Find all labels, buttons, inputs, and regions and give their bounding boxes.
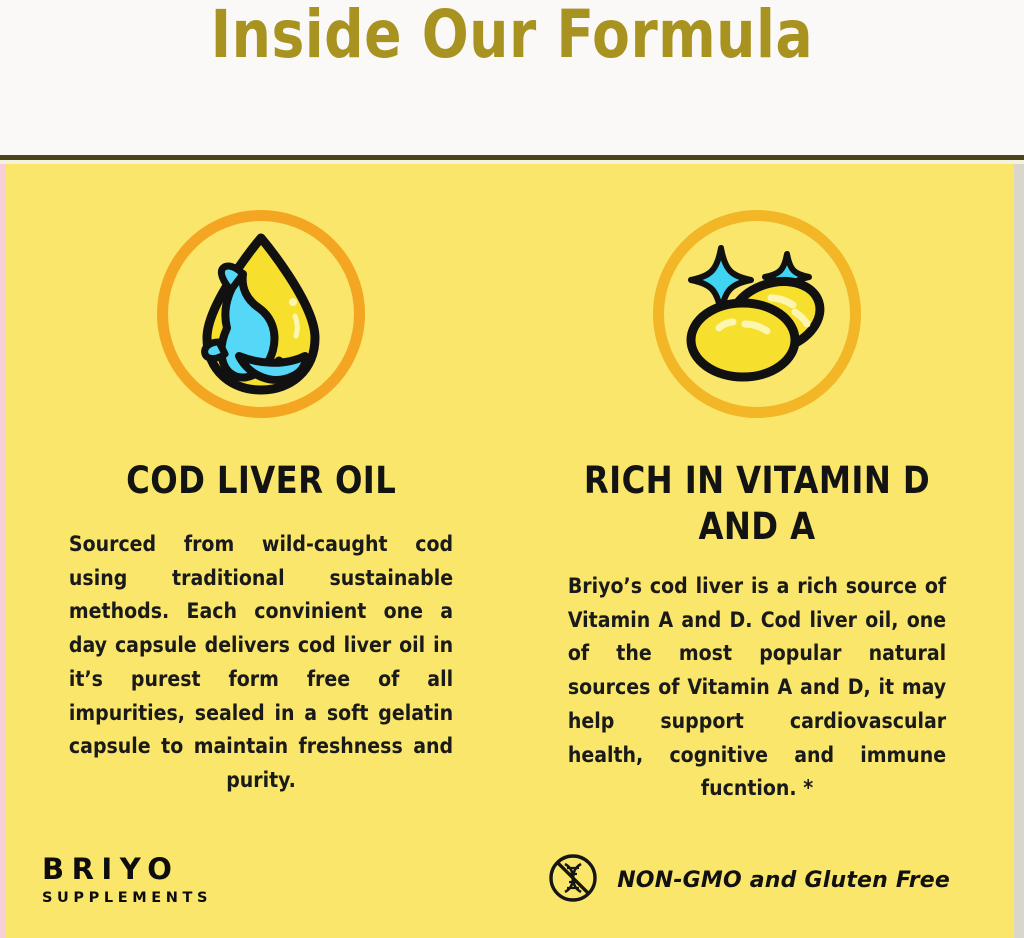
feature-heading: COD LIVER OIL xyxy=(126,458,396,504)
brand-name: BRIYO xyxy=(42,855,179,884)
brand-logo: BRIYO SUPPLEMENTS xyxy=(42,855,212,906)
page-header: Inside Our Formula xyxy=(0,0,1024,155)
brand-subtitle: SUPPLEMENTS xyxy=(42,891,212,906)
softgel-capsules-sparkle-icon xyxy=(653,210,861,418)
feature-body-text: Sourced from wild-caught cod using tradi… xyxy=(69,528,453,798)
feature-body-text: Briyo’s cod liver is a rich source of Vi… xyxy=(568,570,946,806)
feature-card-vitamin-d-a: RICH IN VITAMIN D AND A Briyo’s cod live… xyxy=(510,210,1014,806)
feature-card-cod-liver-oil: COD LIVER OIL Sourced from wild-caught c… xyxy=(6,210,510,806)
formula-panel: COD LIVER OIL Sourced from wild-caught c… xyxy=(0,164,1024,938)
header-divider xyxy=(0,155,1024,164)
feature-columns: COD LIVER OIL Sourced from wild-caught c… xyxy=(6,164,1014,806)
non-gmo-claim: NON-GMO and Gluten Free xyxy=(547,852,950,908)
non-gmo-dna-icon xyxy=(547,852,599,908)
feature-heading: RICH IN VITAMIN D AND A xyxy=(578,458,937,550)
page-title: Inside Our Formula xyxy=(211,2,813,68)
panel-footer: BRIYO SUPPLEMENTS NON-GMO and Gluten Fre… xyxy=(6,852,1014,908)
fish-oil-droplet-icon xyxy=(157,210,365,418)
non-gmo-claim-text: NON-GMO and Gluten Free xyxy=(617,868,950,893)
